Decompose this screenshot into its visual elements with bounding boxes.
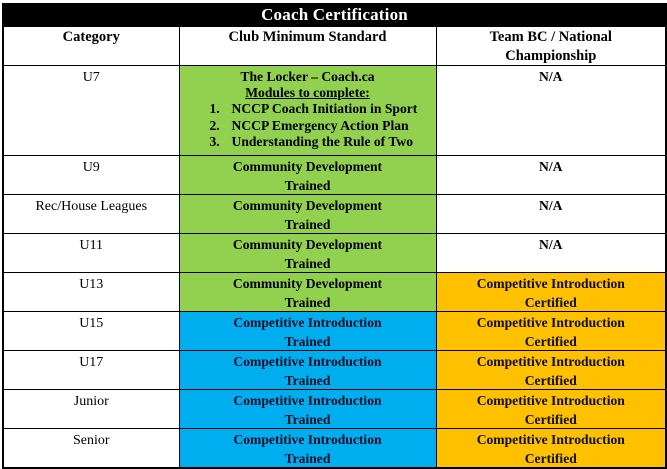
cell-team-championship: N/A bbox=[436, 66, 666, 156]
locker-module-block: The Locker – Coach.ca Modules to complet… bbox=[180, 66, 436, 155]
column-header-category: Category bbox=[3, 27, 179, 66]
cell-club-standard: Competitive Introduction Trained bbox=[179, 311, 436, 350]
module-number: 3. bbox=[210, 134, 220, 151]
team-label-line1: Competitive Introduction bbox=[437, 351, 666, 370]
module-label: NCCP Coach Initiation in Sport bbox=[232, 101, 418, 116]
table-row: Senior Competitive Introduction Trained … bbox=[3, 428, 666, 468]
cell-club-standard: Community Development Trained bbox=[179, 155, 436, 194]
cell-category: U15 bbox=[3, 311, 179, 350]
team-label-line1: Competitive Introduction bbox=[437, 390, 666, 409]
cell-team-championship: N/A bbox=[436, 194, 666, 233]
cell-team-championship: N/A bbox=[436, 233, 666, 272]
module-label: Understanding the Rule of Two bbox=[232, 134, 414, 149]
team-label-line1: N/A bbox=[437, 195, 666, 214]
cell-category: U17 bbox=[3, 350, 179, 389]
cell-club-standard: Community Development Trained bbox=[179, 272, 436, 311]
column-header-team-label-line2: Championship bbox=[437, 46, 666, 65]
table-row: U17 Competitive Introduction Trained Com… bbox=[3, 350, 666, 389]
cell-category: U7 bbox=[3, 66, 179, 156]
locker-heading: The Locker – Coach.ca bbox=[182, 69, 434, 85]
cell-category: Junior bbox=[3, 389, 179, 428]
team-label-line2: Certified bbox=[437, 292, 666, 311]
club-label-line2: Trained bbox=[180, 175, 436, 194]
cell-category: U11 bbox=[3, 233, 179, 272]
team-label-line1: Competitive Introduction bbox=[437, 429, 666, 448]
team-label-line1: N/A bbox=[437, 66, 666, 85]
column-header-category-label: Category bbox=[4, 27, 179, 46]
club-label-line2: Trained bbox=[180, 292, 436, 311]
column-header-club-label: Club Minimum Standard bbox=[180, 27, 436, 46]
locker-subheading: Modules to complete: bbox=[182, 85, 434, 101]
table-body: U7 The Locker – Coach.ca Modules to comp… bbox=[3, 66, 666, 468]
title-row: Coach Certification bbox=[3, 4, 666, 27]
category-label: Rec/House Leagues bbox=[4, 195, 179, 215]
module-number: 1. bbox=[210, 101, 220, 118]
category-label: U11 bbox=[4, 234, 179, 254]
team-label-line2: Certified bbox=[437, 331, 666, 350]
cell-category: Rec/House Leagues bbox=[3, 194, 179, 233]
category-label: U9 bbox=[4, 156, 179, 176]
cell-team-championship: N/A bbox=[436, 155, 666, 194]
cell-team-championship: Competitive Introduction Certified bbox=[436, 350, 666, 389]
club-label-line2: Trained bbox=[180, 409, 436, 428]
club-label-line2: Trained bbox=[180, 214, 436, 233]
coach-certification-sheet: Coach Certification Category Club Minimu… bbox=[0, 3, 667, 433]
club-label-line1: Community Development bbox=[180, 273, 436, 292]
club-label-line1: Competitive Introduction bbox=[180, 390, 436, 409]
table-row: U11 Community Development Trained N/A bbox=[3, 233, 666, 272]
club-label-line1: Competitive Introduction bbox=[180, 429, 436, 448]
table-header: Coach Certification Category Club Minimu… bbox=[3, 4, 666, 66]
team-label-line1: Competitive Introduction bbox=[437, 273, 666, 292]
cell-club-standard: The Locker – Coach.ca Modules to complet… bbox=[179, 66, 436, 156]
team-label-line1: Competitive Introduction bbox=[437, 312, 666, 331]
cell-team-championship: Competitive Introduction Certified bbox=[436, 311, 666, 350]
page-title: Coach Certification bbox=[4, 5, 665, 25]
team-label-line2: Certified bbox=[437, 448, 666, 467]
team-label-line1: N/A bbox=[437, 156, 666, 175]
cell-category: U13 bbox=[3, 272, 179, 311]
cell-team-championship: Competitive Introduction Certified bbox=[436, 428, 666, 468]
cell-team-championship: Competitive Introduction Certified bbox=[436, 389, 666, 428]
cell-club-standard: Competitive Introduction Trained bbox=[179, 350, 436, 389]
column-header-team-label-line1: Team BC / National bbox=[437, 27, 666, 46]
team-label-line2: Certified bbox=[437, 370, 666, 389]
club-label-line1: Competitive Introduction bbox=[180, 312, 436, 331]
club-label-line1: Community Development bbox=[180, 234, 436, 253]
cell-category: Senior bbox=[3, 428, 179, 468]
list-item: 3. Understanding the Rule of Two bbox=[210, 134, 434, 151]
club-label-line2: Trained bbox=[180, 331, 436, 350]
module-label: NCCP Emergency Action Plan bbox=[232, 118, 409, 133]
table-title-cell: Coach Certification bbox=[3, 4, 666, 27]
category-label: U7 bbox=[4, 66, 179, 86]
club-label-line1: Community Development bbox=[180, 195, 436, 214]
cell-club-standard: Competitive Introduction Trained bbox=[179, 389, 436, 428]
table-row: U7 The Locker – Coach.ca Modules to comp… bbox=[3, 66, 666, 156]
table-row: U13 Community Development Trained Compet… bbox=[3, 272, 666, 311]
table-row: Rec/House Leagues Community Development … bbox=[3, 194, 666, 233]
category-label: Senior bbox=[4, 429, 179, 449]
cell-club-standard: Competitive Introduction Trained bbox=[179, 428, 436, 468]
category-label: U15 bbox=[4, 312, 179, 332]
team-label-line1: N/A bbox=[437, 234, 666, 253]
category-label: U13 bbox=[4, 273, 179, 293]
table-row: U9 Community Development Trained N/A bbox=[3, 155, 666, 194]
column-header-row: Category Club Minimum Standard Team BC /… bbox=[3, 27, 666, 66]
club-label-line2: Trained bbox=[180, 448, 436, 467]
module-list: 1. NCCP Coach Initiation in Sport 2. NCC… bbox=[182, 101, 434, 151]
club-label-line2: Trained bbox=[180, 370, 436, 389]
cell-category: U9 bbox=[3, 155, 179, 194]
club-label-line2: Trained bbox=[180, 253, 436, 272]
coach-certification-table: Coach Certification Category Club Minimu… bbox=[2, 3, 667, 469]
cell-club-standard: Community Development Trained bbox=[179, 194, 436, 233]
cell-club-standard: Community Development Trained bbox=[179, 233, 436, 272]
cell-team-championship: Competitive Introduction Certified bbox=[436, 272, 666, 311]
module-number: 2. bbox=[210, 118, 220, 135]
table-row: U15 Competitive Introduction Trained Com… bbox=[3, 311, 666, 350]
column-header-team: Team BC / National Championship bbox=[436, 27, 666, 66]
list-item: 1. NCCP Coach Initiation in Sport bbox=[210, 101, 434, 118]
table-row: Junior Competitive Introduction Trained … bbox=[3, 389, 666, 428]
team-label-line2: Certified bbox=[437, 409, 666, 428]
list-item: 2. NCCP Emergency Action Plan bbox=[210, 118, 434, 135]
club-label-line1: Community Development bbox=[180, 156, 436, 175]
category-label: Junior bbox=[4, 390, 179, 410]
category-label: U17 bbox=[4, 351, 179, 371]
club-label-line1: Competitive Introduction bbox=[180, 351, 436, 370]
column-header-club: Club Minimum Standard bbox=[179, 27, 436, 66]
